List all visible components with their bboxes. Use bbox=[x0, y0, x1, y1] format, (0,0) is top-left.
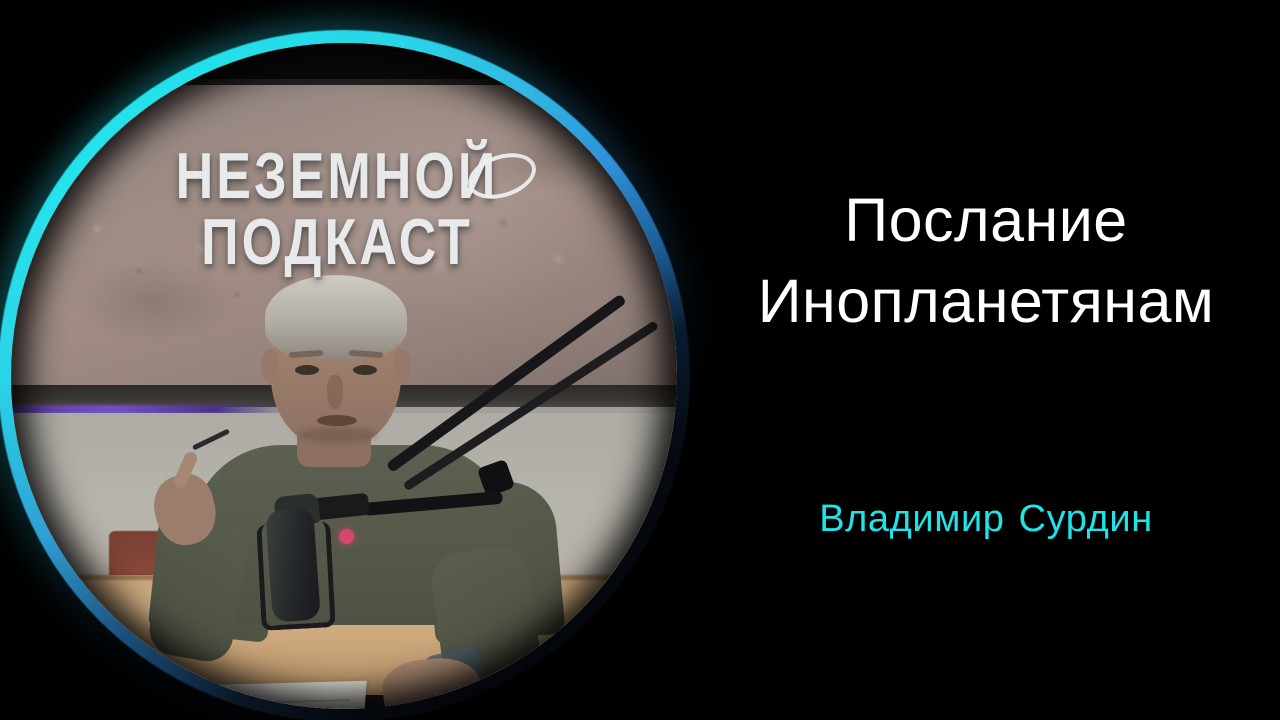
speaker-name-line: ВладимирСурдин bbox=[692, 498, 1280, 541]
eye-right bbox=[353, 365, 377, 375]
speaker-name: ВладимирСурдин bbox=[692, 498, 1280, 541]
studio-scene: НЕЗЕМНОЙ ПОДКАСТ bbox=[11, 79, 677, 679]
eye-left bbox=[295, 365, 319, 375]
thumbnail-photo: НЕЗЕМНОЙ ПОДКАСТ bbox=[11, 43, 677, 709]
ear-left bbox=[261, 349, 279, 383]
microphone bbox=[265, 507, 321, 622]
paper-sheet bbox=[187, 681, 367, 709]
circular-thumbnail: НЕЗЕМНОЙ ПОДКАСТ bbox=[0, 30, 690, 720]
mouth bbox=[317, 415, 357, 426]
ear-right bbox=[393, 349, 411, 383]
nose bbox=[327, 375, 343, 409]
title-line-2: Инопланетянам bbox=[692, 261, 1280, 342]
chin-shadow bbox=[297, 427, 377, 443]
title-line-1: Послание bbox=[692, 180, 1280, 261]
speaker-last-name: Сурдин bbox=[1019, 498, 1153, 540]
mic-led-indicator bbox=[339, 529, 354, 544]
hair bbox=[265, 275, 407, 359]
speaker-first-name: Владимир bbox=[819, 498, 1004, 540]
video-thumbnail-slide: НЕЗЕМНОЙ ПОДКАСТ Послание Инопланетянам … bbox=[0, 0, 1280, 720]
page-title: Послание Инопланетянам bbox=[692, 180, 1280, 342]
pen bbox=[192, 428, 230, 450]
